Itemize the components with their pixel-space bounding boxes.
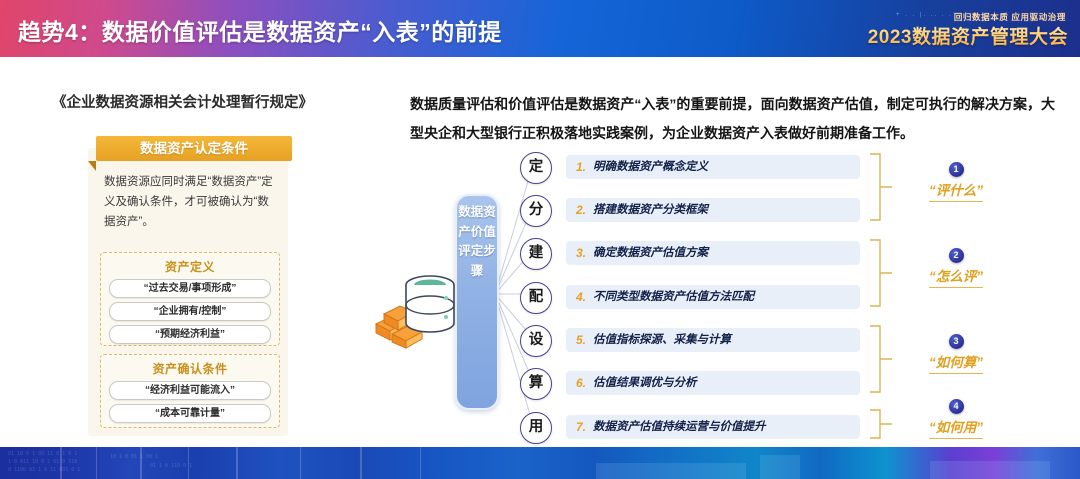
step-text: 数据资产估值持续运营与价值提升	[593, 415, 766, 439]
step-bar: 5. 估值指标探源、采集与计算	[566, 328, 860, 352]
step-glyph: 算	[520, 368, 552, 400]
step-glyph: 配	[520, 282, 552, 314]
annotation-text: “怎么评”	[929, 265, 983, 288]
digital-pattern-icon: 01 10 0 1 00 11 0 1 0 1 1 0 011 10 0 1 0…	[0, 447, 1080, 479]
step-number: 3.	[576, 241, 586, 265]
vertical-process-label-text: 数据资产价值评定步骤	[457, 196, 497, 281]
step-glyph: 定	[520, 152, 552, 184]
annotation-text: “如何算”	[929, 351, 983, 374]
step-row[interactable]: 建 3. 确定数据资产估值方案	[520, 238, 860, 268]
step-bar: 1. 明确数据资产概念定义	[566, 155, 860, 179]
step-glyph: 设	[520, 325, 552, 357]
logo-wordmark: 2023数据资产管理大会	[868, 22, 1068, 49]
annotation-badge: 1	[949, 162, 964, 177]
asset-confirmation-item: “经济利益可能流入”	[109, 381, 271, 400]
step-number: 2.	[576, 198, 586, 222]
asset-definition-item: “预期经济利益”	[109, 325, 271, 344]
step-row[interactable]: 定 1. 明确数据资产概念定义	[520, 152, 860, 182]
steps-list: 定 1. 明确数据资产概念定义 分 2. 搭建数据资产分类框架 建 3. 确定数…	[520, 152, 860, 440]
annotation-text: “评什么”	[929, 179, 983, 202]
step-glyph: 分	[520, 195, 552, 227]
step-text: 明确数据资产概念定义	[593, 155, 708, 179]
asset-definition-title: 资产定义	[101, 258, 279, 275]
step-text: 确定数据资产估值方案	[593, 241, 708, 265]
annotation-item: 3 “如何算”	[908, 334, 1004, 374]
step-text: 估值指标探源、采集与计算	[593, 328, 731, 352]
svg-text:01 10 0 1 00 11 0 1 0 1: 01 10 0 1 00 11 0 1 0 1	[8, 451, 77, 457]
asset-confirmation-item: “成本可靠计量”	[109, 404, 271, 423]
lede-paragraph: 数据质量评估和价值评估是数据资产“入表”的重要前提，面向数据资产估值，制定可执行…	[410, 90, 1055, 148]
step-number: 5.	[576, 328, 586, 352]
annotation-item: 1 “评什么”	[908, 162, 1004, 202]
step-row[interactable]: 配 4. 不同类型数据资产估值方法匹配	[520, 282, 860, 312]
asset-definition-item: “企业拥有/控制”	[109, 302, 271, 321]
vertical-process-label: 数据资产价值评定步骤	[455, 194, 499, 410]
annotation-badge: 4	[949, 399, 964, 414]
conference-logo: + . . |. .. . .' . . . 回归数据本质 应用驱动治理 202…	[892, 4, 1070, 52]
annotation-badge: 3	[949, 334, 964, 349]
step-row[interactable]: 设 5. 估值指标探源、采集与计算	[520, 325, 860, 355]
step-text: 不同类型数据资产估值方法匹配	[593, 285, 754, 309]
recognition-criteria-banner-label: 数据资产认定条件	[96, 136, 292, 161]
database-cylinder-icon	[406, 276, 454, 332]
recognition-description: 数据资源应同时满足“数据资产”定义及确认条件，才可被确认为“数据资产”。	[104, 172, 274, 232]
grouping-brackets	[862, 148, 902, 440]
step-row[interactable]: 用 7. 数据资产估值持续运营与价值提升	[520, 412, 860, 442]
step-number: 6.	[576, 371, 586, 395]
slide-root: 趋势4：数据价值评估是数据资产“入表”的前提 + . . |. .. . .' …	[0, 0, 1080, 479]
annotation-badge: 2	[949, 248, 964, 263]
page-title: 趋势4：数据价值评估是数据资产“入表”的前提	[18, 13, 502, 47]
step-glyph: 用	[520, 412, 552, 444]
annotation-item: 2 “怎么评”	[908, 248, 1004, 288]
step-glyph: 建	[520, 238, 552, 270]
asset-definition-item: “过去交易/事项形成”	[109, 279, 271, 298]
step-bar: 6. 估值结果调优与分析	[566, 371, 860, 395]
slide-header: 趋势4：数据价值评估是数据资产“入表”的前提 + . . |. .. . .' …	[0, 0, 1080, 57]
annotation-text: “如何用”	[929, 416, 983, 439]
regulation-doc-title: 《企业数据资源相关会计处理暂行规定》	[52, 91, 313, 112]
slide-footer-strip: 01 10 0 1 00 11 0 1 0 1 1 0 011 10 0 1 0…	[0, 447, 1080, 479]
step-bar: 7. 数据资产估值持续运营与价值提升	[566, 415, 860, 439]
asset-confirmation-title: 资产确认条件	[101, 360, 279, 377]
asset-confirmation-box: 资产确认条件 “经济利益可能流入” “成本可靠计量”	[100, 354, 280, 428]
bracket-lines-icon	[862, 148, 902, 440]
database-icon	[372, 268, 458, 350]
asset-definition-box: 资产定义 “过去交易/事项形成” “企业拥有/控制” “预期经济利益”	[100, 252, 280, 346]
step-bar: 4. 不同类型数据资产估值方法匹配	[566, 285, 860, 309]
step-bar: 3. 确定数据资产估值方案	[566, 241, 860, 265]
step-number: 7.	[576, 415, 586, 439]
step-number: 4.	[576, 285, 586, 309]
step-row[interactable]: 算 6. 估值结果调优与分析	[520, 368, 860, 398]
step-text: 估值结果调优与分析	[593, 371, 697, 395]
step-text: 搭建数据资产分类框架	[593, 198, 708, 222]
svg-text:1 0 011 10 0 1 01 0 110: 1 0 011 10 0 1 01 0 110	[8, 459, 77, 465]
recognition-criteria-banner: 数据资产认定条件	[96, 136, 292, 161]
database-gold-illustration	[372, 268, 458, 350]
step-row[interactable]: 分 2. 搭建数据资产分类框架	[520, 195, 860, 225]
svg-text:0 1100 01 1 0 11 001 0 1: 0 1100 01 1 0 11 001 0 1	[8, 467, 80, 473]
annotation-item: 4 “如何用”	[908, 399, 1004, 439]
step-number: 1.	[576, 155, 586, 179]
step-bar: 2. 搭建数据资产分类框架	[566, 198, 860, 222]
svg-text:10 1 0 01 1 00 1: 10 1 0 01 1 00 1	[110, 454, 158, 460]
svg-text:01 1 0 110 0 1: 01 1 0 110 0 1	[150, 463, 192, 469]
